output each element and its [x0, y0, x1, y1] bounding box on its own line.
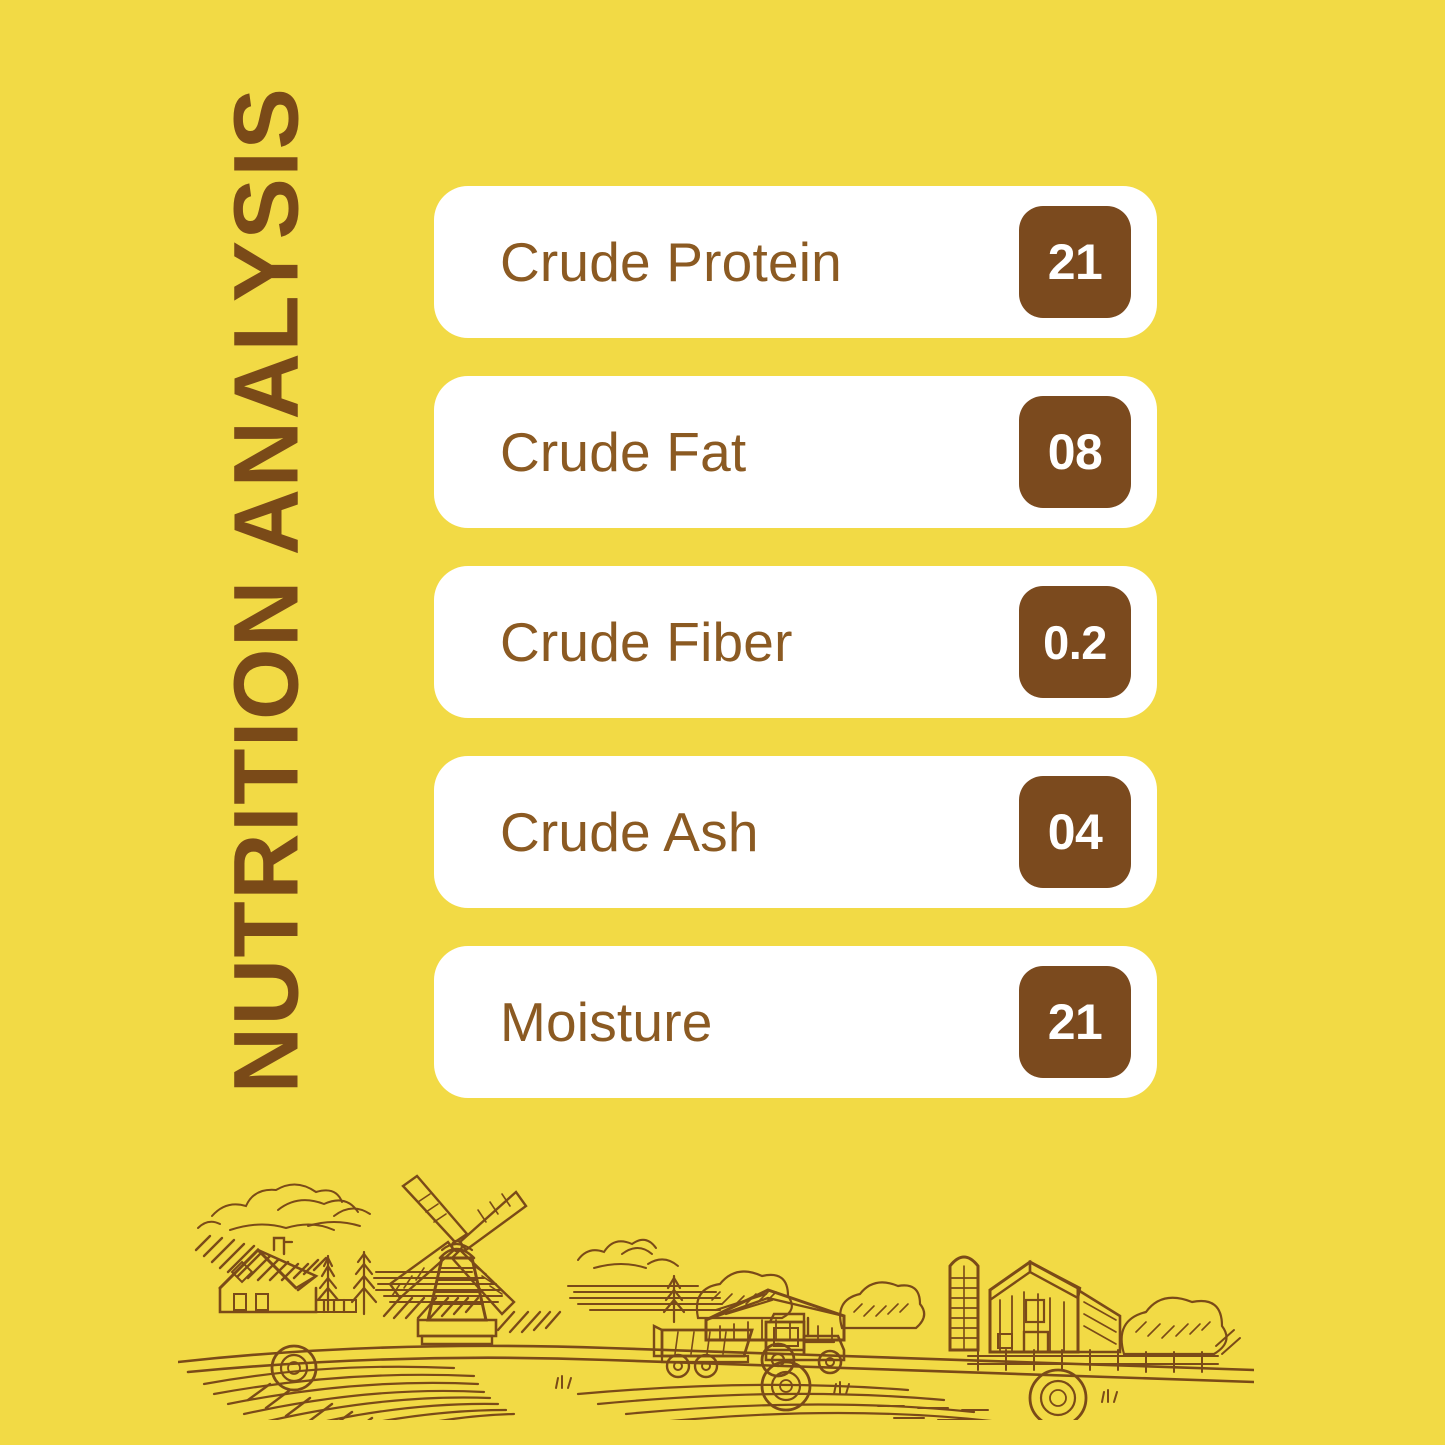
nutrition-label: Crude Protein [500, 235, 1019, 290]
barn [990, 1262, 1120, 1352]
nutrition-row-crude-fat[interactable]: Crude Fat 08 [434, 376, 1157, 528]
cloud-group-left [198, 1184, 370, 1230]
nutrition-row-crude-protein[interactable]: Crude Protein 21 [434, 186, 1157, 338]
nutrition-value-badge: 08 [1019, 396, 1131, 508]
nutrition-value-badge: 21 [1019, 966, 1131, 1078]
nutrition-value-badge: 0.2 [1019, 586, 1131, 698]
field-hatch-center [498, 1312, 560, 1332]
silo [950, 1257, 978, 1350]
vertical-title-container: NUTRITION ANALYSIS [0, 0, 430, 1180]
nutrition-row-crude-fiber[interactable]: Crude Fiber 0.2 [434, 566, 1157, 718]
nutrition-value-badge: 21 [1019, 206, 1131, 318]
nutrition-label: Crude Ash [500, 805, 1019, 860]
nutrition-row-moisture[interactable]: Moisture 21 [434, 946, 1157, 1098]
farm-landscape-illustration [178, 1150, 1254, 1420]
nutrition-list: Crude Protein 21 Crude Fat 08 Crude Fibe… [434, 186, 1157, 1098]
tree-hatching-left [196, 1236, 326, 1280]
cloud-group-right [578, 1240, 678, 1268]
bush-cluster-right [840, 1282, 924, 1328]
nutrition-analysis-poster: NUTRITION ANALYSIS Crude Protein 21 Crud… [0, 0, 1445, 1445]
field-furrows-right [578, 1385, 1070, 1420]
nutrition-value-badge: 04 [1019, 776, 1131, 888]
nutrition-row-crude-ash[interactable]: Crude Ash 04 [434, 756, 1157, 908]
nutrition-label: Moisture [500, 995, 1019, 1050]
conifer-trees-left [318, 1252, 376, 1314]
nutrition-label: Crude Fat [500, 425, 1019, 480]
nutrition-label: Crude Fiber [500, 615, 1019, 670]
windmill [390, 1176, 526, 1344]
field-furrows-left [204, 1367, 514, 1420]
bush-cluster-far-right [1122, 1298, 1240, 1354]
page-title: NUTRITION ANALYSIS [221, 87, 313, 1094]
